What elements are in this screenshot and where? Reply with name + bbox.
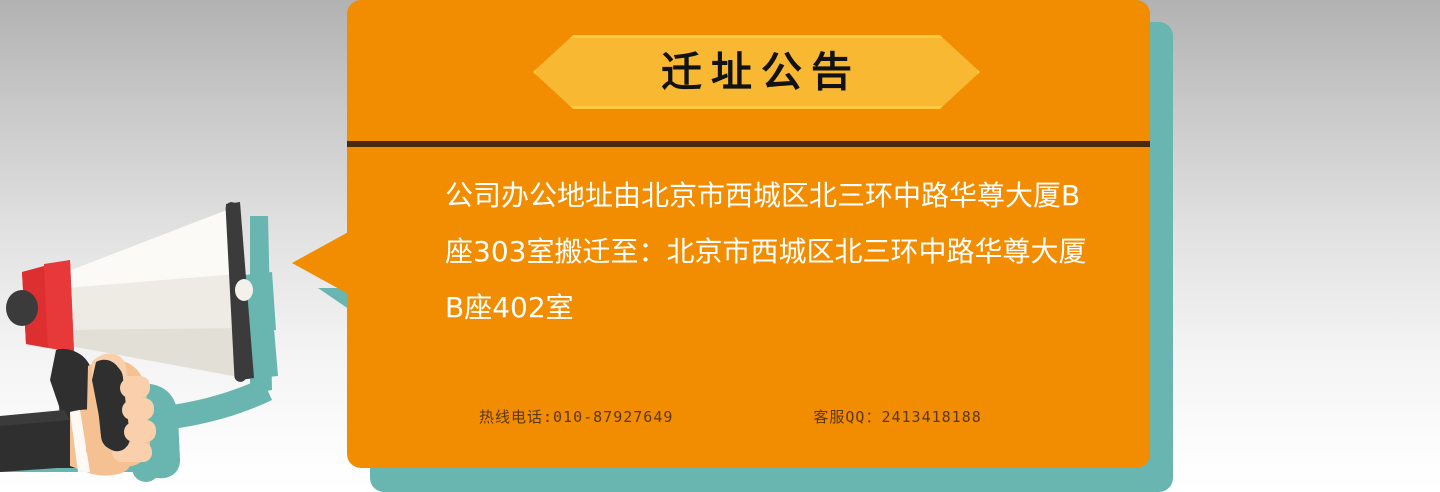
contact-phone: 热线电话:010-87927649 [479,406,673,427]
divider [347,141,1150,147]
announcement-body: 公司办公地址由北京市西城区北三环中路华尊大厦B座303室搬迁至：北京市西城区北三… [445,168,1093,336]
megaphone-icon [0,180,320,492]
page-title: 迁址公告 [652,52,861,93]
announcement-banner: 迁址公告 公司办公地址由北京市西城区北三环中路华尊大厦B座303室搬迁至：北京市… [0,0,1440,492]
contact-qq: 客服QQ：2413418188 [813,406,981,427]
title-ribbon-inner: 迁址公告 [533,35,980,109]
contact-footer: 热线电话:010-87927649 客服QQ：2413418188 [347,406,1150,427]
